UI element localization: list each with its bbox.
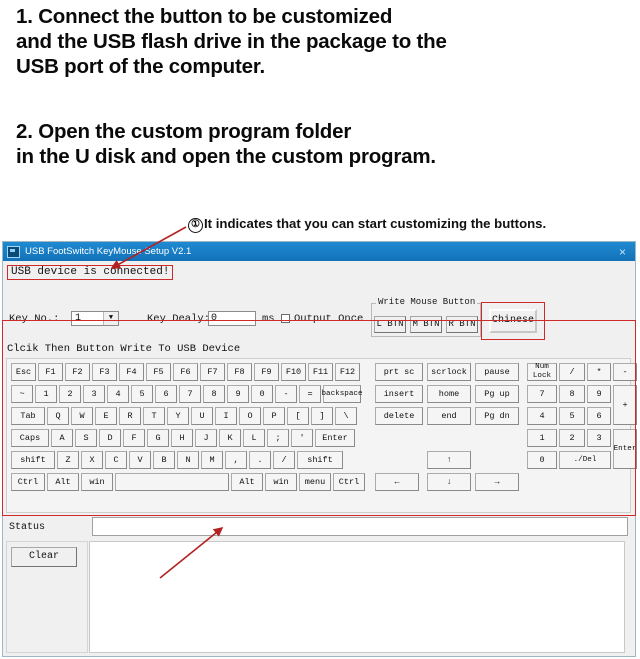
step1-line-2: and the USB flash drive in the package t… (16, 29, 628, 54)
callout-one: ①It indicates that you can start customi… (188, 216, 546, 233)
callout-one-number: ① (188, 218, 203, 233)
step1-line-3: USB port of the computer. (16, 54, 628, 79)
status-row: Status (6, 517, 631, 539)
callout-one-text: It indicates that you can start customiz… (204, 216, 546, 231)
write-mouse-button-title: Write Mouse Button (376, 297, 477, 307)
step2-line-2: in the U disk and open the custom progra… (16, 144, 628, 169)
status-textbox[interactable] (92, 517, 628, 536)
log-output-area[interactable] (89, 541, 625, 653)
annotation-box-keyboard (2, 320, 636, 516)
usb-connected-status: USB device is connected! (7, 265, 173, 280)
step2-line-1: 2. Open the custom program folder (16, 119, 628, 144)
close-icon[interactable]: × (614, 246, 631, 258)
instruction-step-2: 2. Open the custom program folder in the… (16, 119, 628, 169)
instruction-step-1: 1. Connect the button to be customized a… (16, 4, 628, 79)
step1-line-1: 1. Connect the button to be customized (16, 4, 628, 29)
window-titlebar: USB FootSwitch KeyMouse Setup V2.1 × (3, 242, 635, 261)
instructions-block: 1. Connect the button to be customized a… (16, 4, 628, 169)
app-icon (7, 246, 20, 258)
status-label: Status (9, 522, 45, 533)
clear-button[interactable]: Clear (11, 547, 77, 567)
window-title: USB FootSwitch KeyMouse Setup V2.1 (25, 246, 614, 257)
